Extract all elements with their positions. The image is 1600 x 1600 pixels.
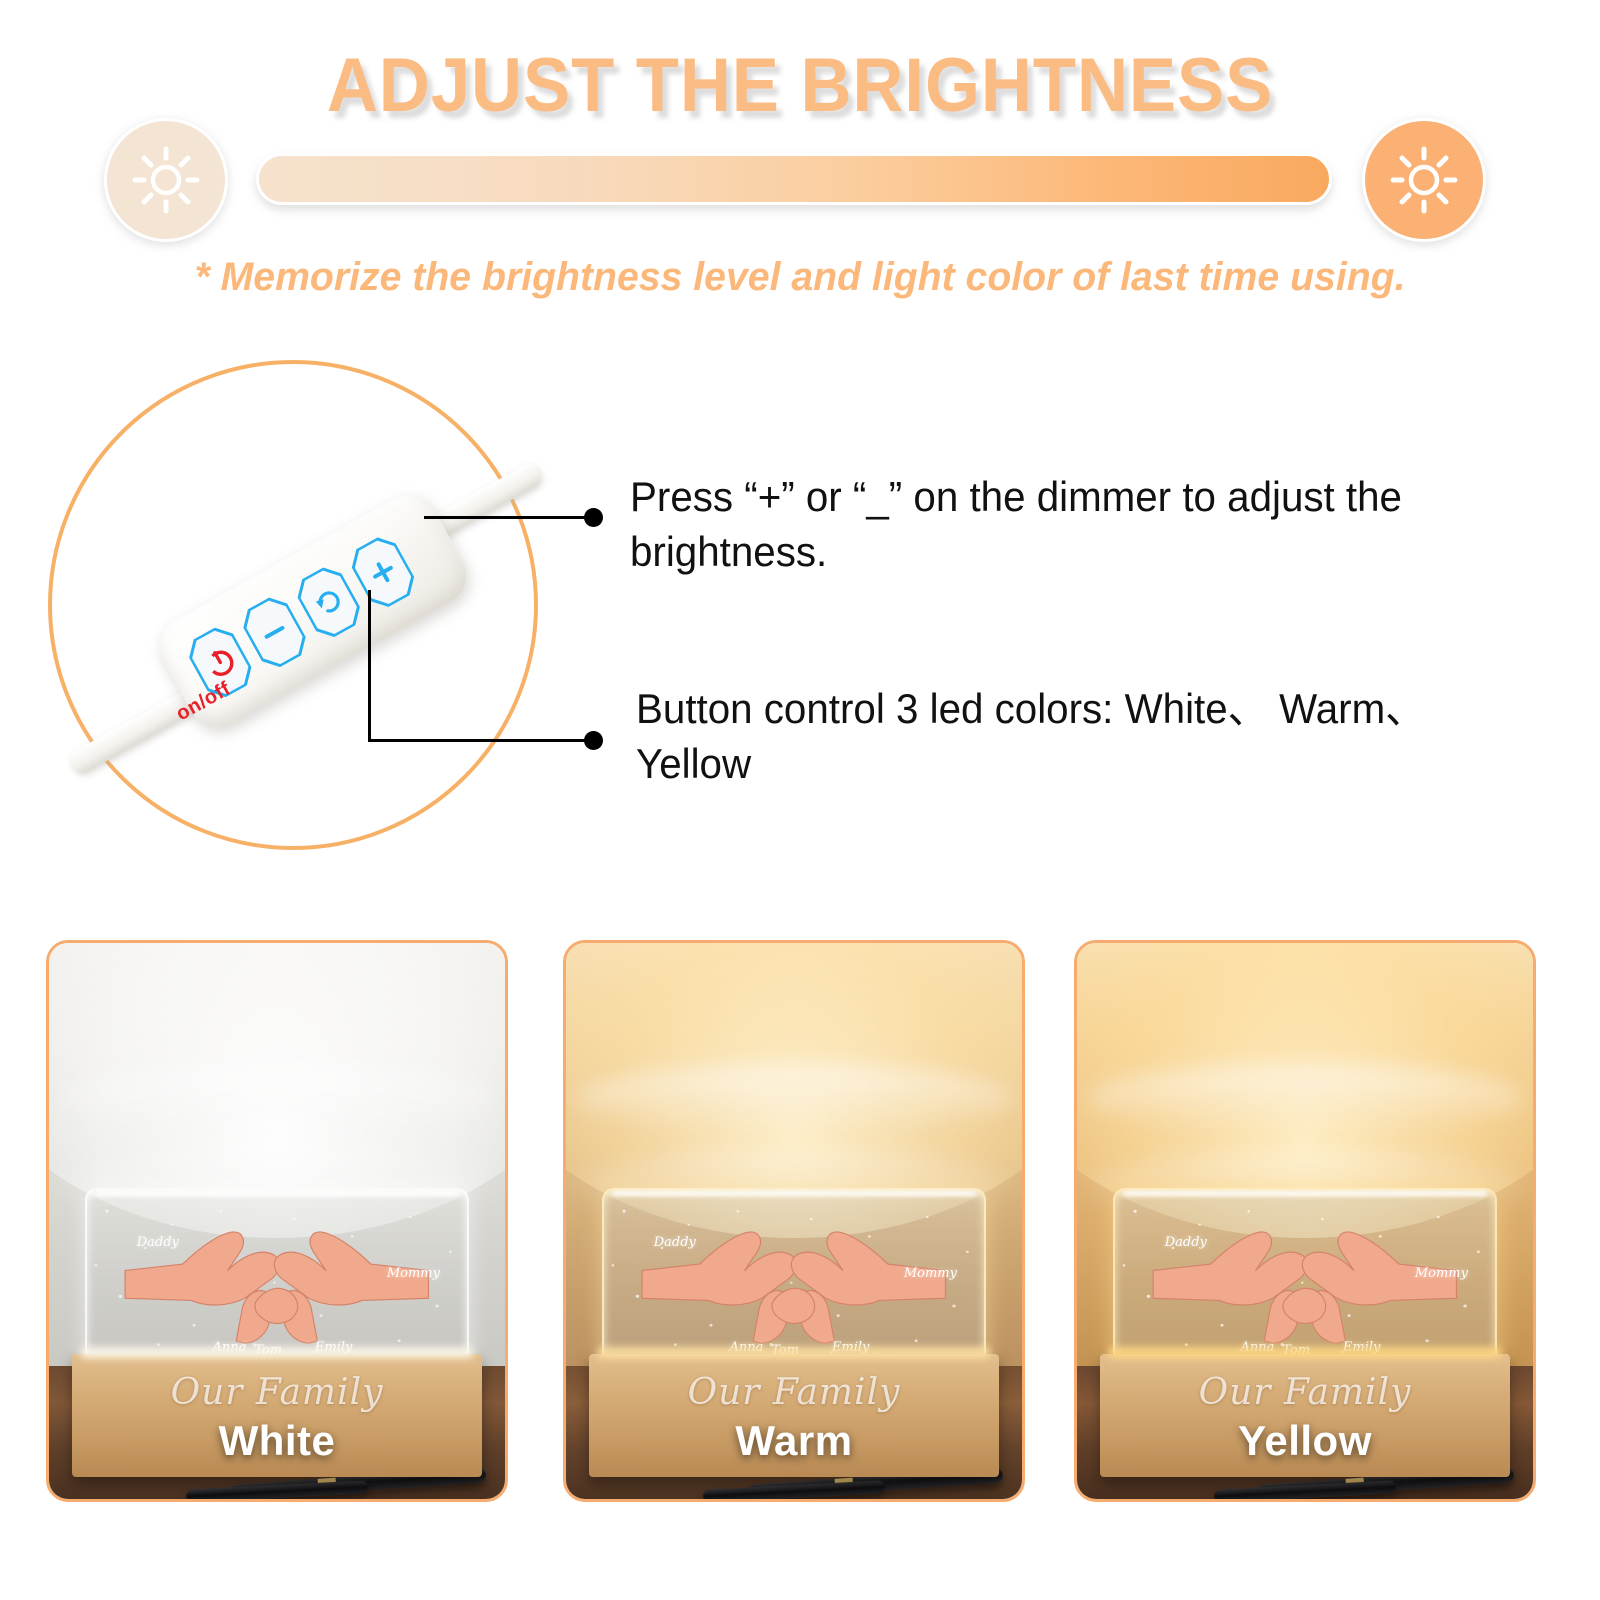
acrylic-plaque: Daddy Mommy Anna Tom Emily <box>1113 1188 1496 1366</box>
callout-text-brightness: Press “+” or “_” on the dimmer to adjust… <box>630 470 1494 579</box>
plaque-name-daddy: Daddy <box>1165 1235 1207 1250</box>
base-script-text: Our Family <box>589 1372 999 1413</box>
header-section: ADJUST THE BRIGHTNESS <box>0 0 1600 330</box>
callout-line-colors-horizontal <box>368 739 592 742</box>
callout-dot-brightness <box>584 508 603 527</box>
sun-bright-icon <box>1362 118 1486 242</box>
dimmer-device-photo: on/off <box>120 440 540 780</box>
callout-text-colors: Button control 3 led colors: White、 Warm… <box>636 682 1500 791</box>
panel-label-warm: Warm <box>566 1417 1022 1465</box>
acrylic-plaque: Daddy Mommy Anna Tom Emily <box>85 1188 468 1366</box>
brightness-slider-track[interactable] <box>256 153 1332 205</box>
dimmer-body: on/off <box>149 484 477 737</box>
panel-label-yellow: Yellow <box>1077 1417 1533 1465</box>
callout-dot-colors <box>584 731 603 750</box>
plaque-name-daddy: Daddy <box>137 1235 179 1250</box>
plaque-name-mommy: Mommy <box>904 1266 957 1281</box>
plaque-name-mommy: Mommy <box>1415 1266 1468 1281</box>
wall-streak <box>58 1064 496 1133</box>
product-panel-warm[interactable]: Daddy Mommy Anna Tom Emily Our Family Wa… <box>563 940 1025 1502</box>
dimmer-device: on/off <box>149 484 477 737</box>
callout-line-brightness <box>424 516 590 519</box>
panel-label-white: White <box>49 1417 505 1465</box>
base-light-glow <box>1108 1347 1502 1358</box>
base-script-text: Our Family <box>1100 1372 1510 1413</box>
sun-bright-glyph <box>1386 142 1462 218</box>
page-title: ADJUST THE BRIGHTNESS <box>56 48 1544 124</box>
scene-warm: Daddy Mommy Anna Tom Emily Our Family <box>566 943 1022 1499</box>
memorize-note: * Memorize the brightness level and ligh… <box>16 255 1584 300</box>
wall-streak <box>1086 1064 1524 1133</box>
plaque-name-mommy: Mommy <box>387 1266 440 1281</box>
callout-line-colors-vertical <box>368 590 371 742</box>
dimmer-section: on/off Press “+” or “_” on the dimmer to… <box>0 340 1600 900</box>
scene-yellow: Daddy Mommy Anna Tom Emily Our Family <box>1077 943 1533 1499</box>
product-panels: Daddy Mommy Anna Tom Emily Our Family Wh… <box>0 940 1600 1510</box>
product-panel-yellow[interactable]: Daddy Mommy Anna Tom Emily Our Family Ye… <box>1074 940 1536 1502</box>
sun-dim-icon <box>104 118 228 242</box>
brightness-slider[interactable] <box>0 118 1600 246</box>
wall-streak <box>575 1064 1013 1133</box>
plaque-name-daddy: Daddy <box>654 1235 696 1250</box>
dimmer-cable-right <box>428 461 545 540</box>
product-panel-white[interactable]: Daddy Mommy Anna Tom Emily Our Family Wh… <box>46 940 508 1502</box>
base-light-glow <box>80 1347 474 1358</box>
base-light-glow <box>597 1347 991 1358</box>
acrylic-plaque: Daddy Mommy Anna Tom Emily <box>602 1188 985 1366</box>
base-script-text: Our Family <box>72 1372 482 1413</box>
scene-white: Daddy Mommy Anna Tom Emily Our Family <box>49 943 505 1499</box>
sun-dim-glyph <box>128 142 204 218</box>
